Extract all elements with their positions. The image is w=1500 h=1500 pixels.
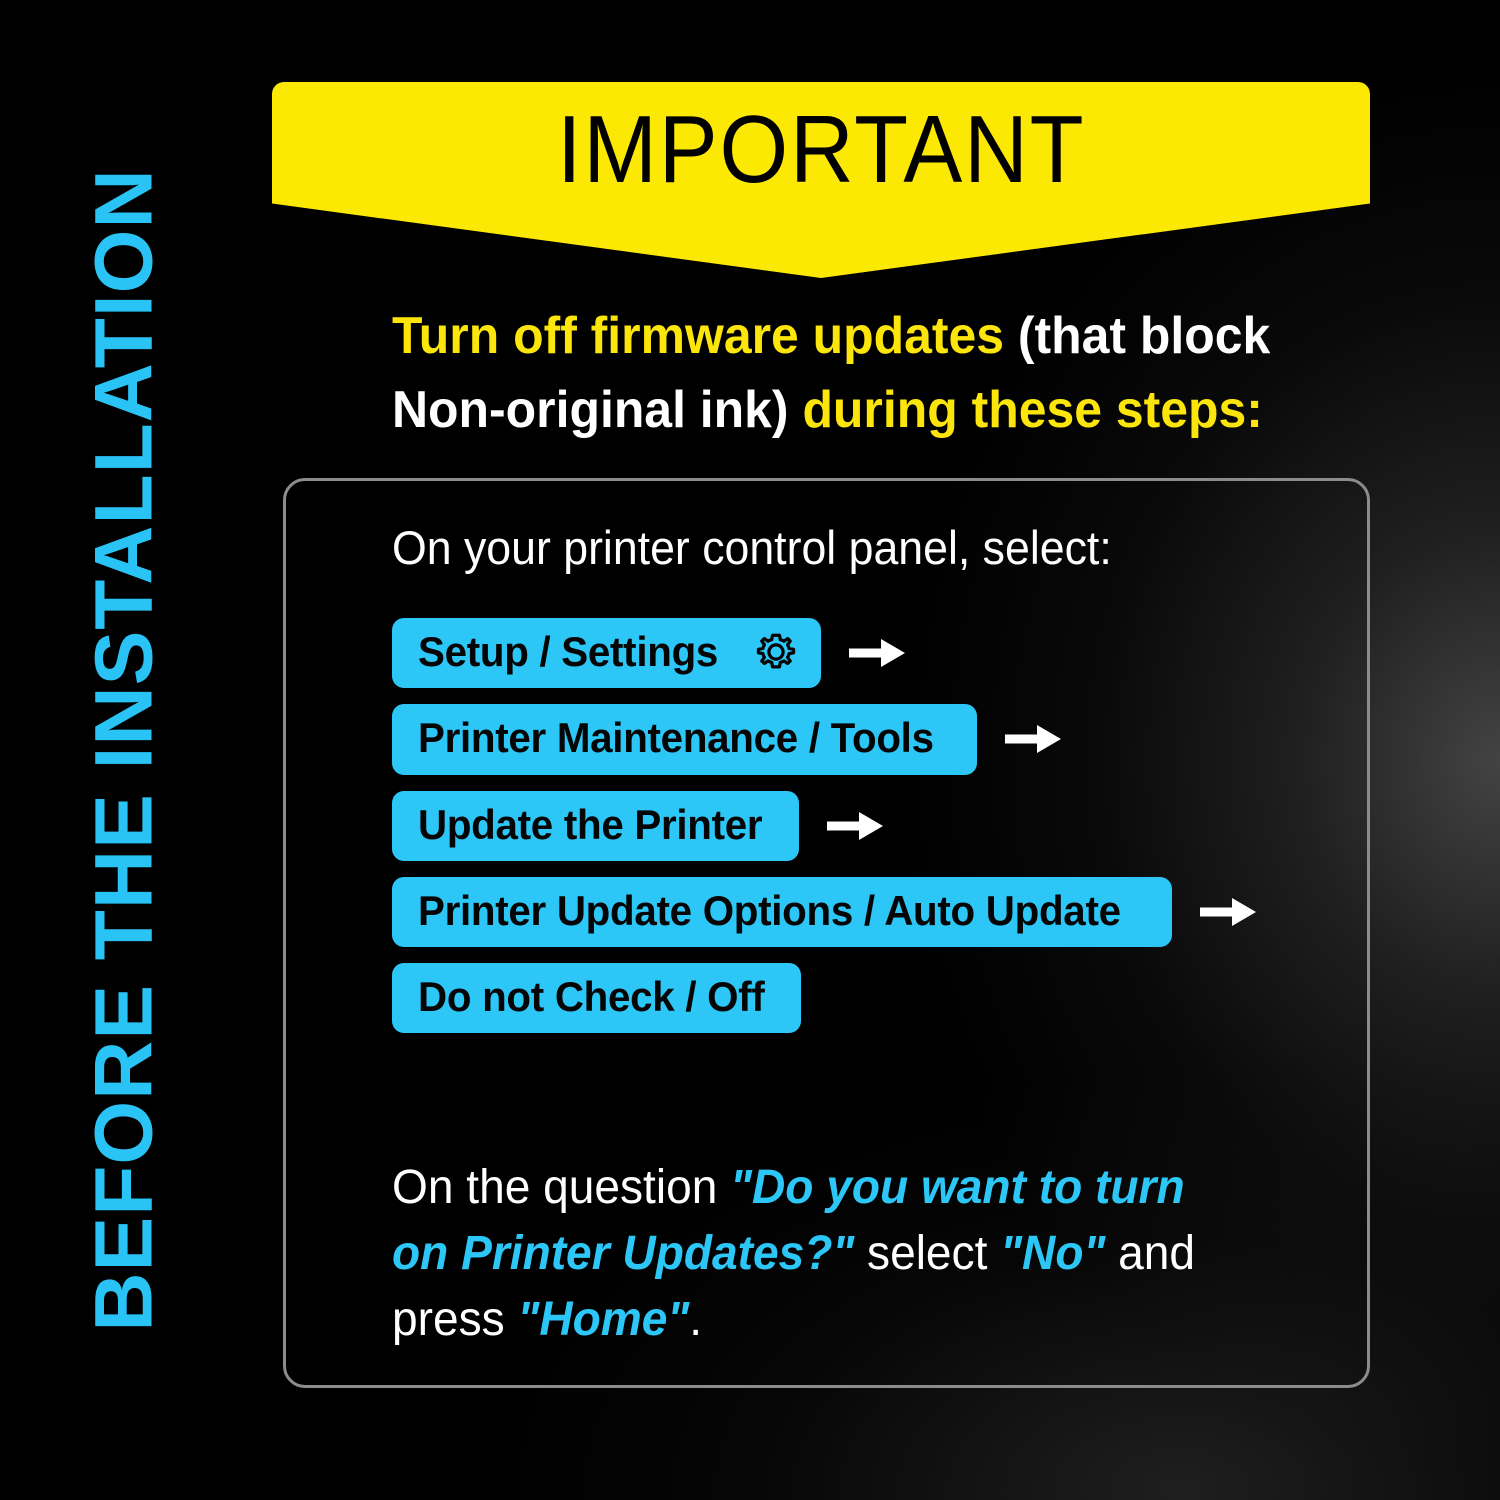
poster-canvas: BEFORE THE INSTALLATION IMPORTANT Turn o… bbox=[0, 0, 1500, 1500]
step-row: Setup / Settings bbox=[392, 618, 1352, 688]
panel-lead-text: On your printer control panel, select: bbox=[392, 520, 1112, 575]
side-title-text: BEFORE THE INSTALLATION bbox=[84, 168, 166, 1331]
step-row: Do not Check / Off bbox=[392, 963, 1352, 1033]
closing-part-7: . bbox=[689, 1293, 702, 1346]
step-row: Update the Printer bbox=[392, 791, 1352, 861]
step-row: Printer Maintenance / Tools bbox=[392, 704, 1352, 774]
step-label: Printer Maintenance / Tools bbox=[418, 714, 934, 762]
step-label: Setup / Settings bbox=[418, 628, 718, 676]
step-label: Do not Check / Off bbox=[418, 973, 765, 1021]
step-row: Printer Update Options / Auto Update bbox=[392, 877, 1352, 947]
headline-part-3: during these steps: bbox=[789, 381, 1263, 439]
closing-paragraph: On the question "Do you want to turn on … bbox=[392, 1155, 1237, 1354]
closing-part-3: select bbox=[854, 1227, 1000, 1280]
closing-part-1: On the question bbox=[392, 1161, 730, 1214]
step-list: Setup / Settings Printer Mai bbox=[392, 618, 1352, 1049]
step-pill-printer-update-options-auto-update[interactable]: Printer Update Options / Auto Update bbox=[392, 877, 1172, 947]
gear-icon bbox=[753, 629, 799, 675]
closing-home-key: "Home" bbox=[517, 1293, 689, 1346]
step-label: Printer Update Options / Auto Update bbox=[418, 887, 1121, 935]
headline-part-1: Turn off firmware updates bbox=[392, 307, 1018, 365]
closing-answer-no: "No" bbox=[1000, 1227, 1105, 1280]
step-label: Update the Printer bbox=[418, 801, 762, 849]
step-pill-setup-settings[interactable]: Setup / Settings bbox=[392, 618, 821, 688]
arrow-right-icon bbox=[847, 633, 907, 673]
arrow-right-icon bbox=[825, 806, 885, 846]
headline: Turn off firmware updates (that block No… bbox=[392, 300, 1342, 448]
side-title-container: BEFORE THE INSTALLATION bbox=[0, 0, 250, 1500]
arrow-right-icon bbox=[1003, 719, 1063, 759]
arrow-right-icon bbox=[1198, 892, 1258, 932]
important-banner-label: IMPORTANT bbox=[557, 100, 1085, 201]
step-pill-do-not-check-off[interactable]: Do not Check / Off bbox=[392, 963, 801, 1033]
step-pill-printer-maintenance-tools[interactable]: Printer Maintenance / Tools bbox=[392, 704, 977, 774]
important-banner: IMPORTANT bbox=[272, 82, 1370, 278]
step-pill-update-the-printer[interactable]: Update the Printer bbox=[392, 791, 799, 861]
